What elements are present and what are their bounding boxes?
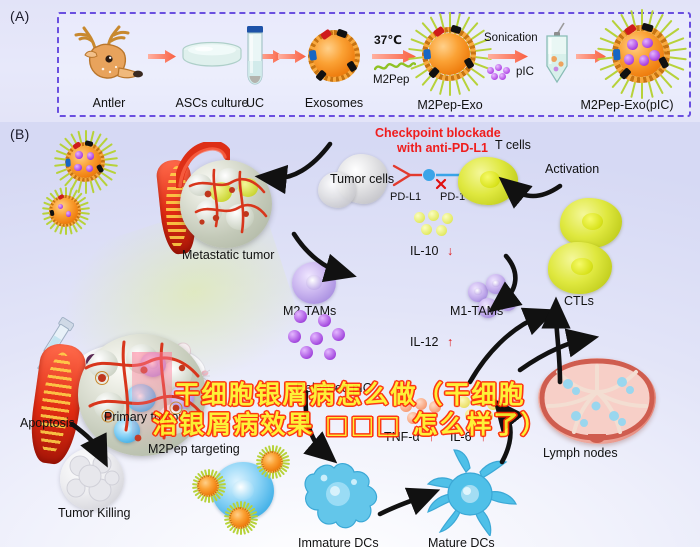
nanoparticle-targeting: [228, 506, 252, 530]
label-checkpoint-line1: Checkpoint blockade: [375, 126, 501, 140]
exosome-icon: [306, 28, 362, 84]
membrane-protein-blue: [613, 49, 621, 61]
step-label-uc: UC: [232, 96, 278, 110]
centrifuge-tube-icon: [240, 25, 270, 87]
sonicator-tube-icon: [540, 22, 574, 88]
ctl-cell-icon: [548, 242, 612, 294]
pic-cluster-icon: [487, 64, 513, 80]
label-m1-tams: M1-TAMs: [450, 304, 503, 318]
label-lymph-nodes: Lymph nodes: [543, 446, 618, 460]
targeting-beam: [132, 352, 172, 452]
temperature-label: 37℃: [374, 33, 402, 47]
il6-up-arrow: ↑: [480, 430, 486, 444]
m2-tam-cell-icon: [292, 262, 336, 304]
peptide-exosome-icon: [420, 25, 478, 83]
metastatic-tumor-icon: [180, 160, 272, 248]
loaded-exosome-icon: [610, 23, 672, 85]
step-label-antler: Antler: [76, 96, 142, 110]
step-label-exosomes: Exosomes: [295, 96, 373, 110]
apoptotic-cell-icon: [60, 448, 124, 510]
label-activation: Activation: [545, 162, 599, 176]
label-released-pic: Released pIC: [296, 381, 372, 395]
process-arrow-3: [278, 50, 306, 62]
il10-text: IL-10: [410, 244, 439, 258]
label-immature-dcs: Immature DCs: [298, 536, 379, 547]
label-checkpoint-line2: with anti-PD-L1: [397, 141, 488, 155]
label-ctls: CTLs: [564, 294, 594, 308]
panel-b-letter: (B): [10, 126, 30, 142]
label-tumor-killing: Tumor Killing: [58, 506, 130, 520]
label-tnfa: TNF-α ↑: [384, 430, 434, 444]
pic-label: pIC: [516, 66, 534, 78]
process-arrow-5: [488, 50, 528, 62]
label-il10: IL-10 ↓: [410, 244, 453, 258]
label-apoptosis: Apoptosis: [20, 416, 75, 430]
sonication-label: Sonication: [484, 32, 538, 44]
nanoparticle-1: [63, 140, 107, 184]
nanoparticle-2: [48, 194, 82, 228]
label-t-cells: T cells: [495, 138, 531, 152]
pic-cargo: [627, 39, 638, 50]
label-il12: IL-12 ↑: [410, 335, 453, 349]
nanoparticle-targeting: [260, 450, 284, 474]
step-label-m2pep-exo-pic: M2Pep-Exo(pIC): [562, 98, 692, 112]
nanoparticle-targeting: [196, 474, 220, 498]
m1-tam-cell-icon: [486, 274, 506, 294]
il10-cytokine-dots: [412, 210, 458, 240]
label-mature-dcs: Mature DCs: [428, 536, 495, 547]
process-arrow-1: [148, 50, 176, 62]
released-pic-dots: [288, 310, 352, 358]
label-tumor-cells: Tumor cells: [330, 172, 394, 186]
m2pep-label: M2Pep: [373, 74, 409, 86]
label-m2pep-targeting: M2Pep targeting: [148, 442, 240, 456]
pic-cargo: [642, 38, 653, 49]
il6-cytokine-dots: [456, 394, 502, 422]
deer-antler-icon: [72, 22, 146, 84]
il12-up-arrow: ↑: [447, 335, 453, 349]
petri-dish-icon: [180, 40, 244, 70]
membrane-protein-blue: [423, 48, 431, 59]
panel-b: (B): [0, 122, 700, 547]
tnfa-text: TNF-α: [384, 430, 420, 444]
primary-tumor-icon: [78, 334, 206, 456]
mature-dc-icon: [424, 448, 520, 536]
label-il6: IL-6 ↑: [450, 430, 486, 444]
panel-a-letter: (A): [10, 8, 30, 24]
il6-text: IL-6: [450, 430, 472, 444]
ctl-cell-icon: [560, 198, 622, 248]
pic-cargo: [639, 55, 650, 66]
step-label-m2pep-exo: M2Pep-Exo: [404, 98, 496, 112]
il12-text: IL-12: [410, 335, 439, 349]
label-pd-l1: PD-L1: [390, 191, 421, 203]
lymph-node-icon: [538, 358, 656, 444]
panel-a: (A): [0, 0, 700, 122]
t-cell-icon: [458, 157, 518, 205]
label-primary-tumor: Primary tumor: [104, 410, 182, 424]
il10-down-arrow: ↓: [447, 244, 453, 258]
immature-dc-icon: [296, 452, 388, 536]
tnfa-up-arrow: ↑: [428, 430, 434, 444]
figure-root: (A): [0, 0, 700, 547]
label-metastatic-tumor: Metastatic tumor: [182, 248, 274, 262]
tnfa-cytokine-dots: [398, 398, 444, 426]
pic-cargo: [624, 54, 635, 65]
